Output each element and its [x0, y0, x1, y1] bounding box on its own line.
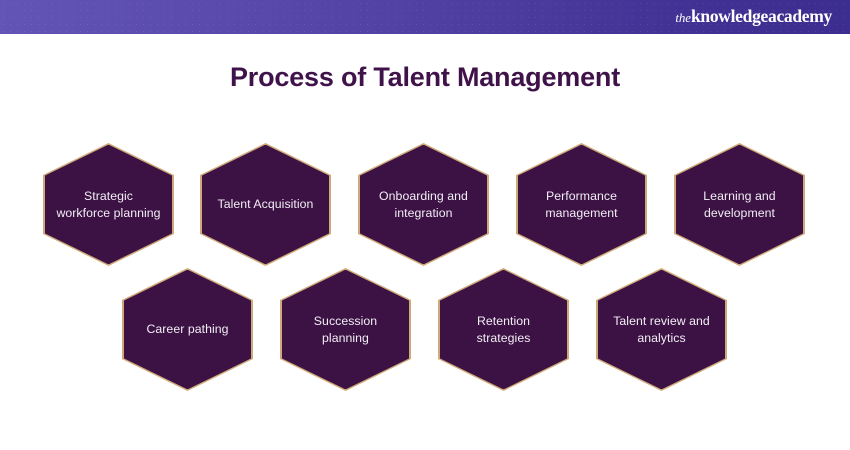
process-step-label: Talent review and analytics [596, 313, 727, 347]
process-step-strategic-workforce-planning[interactable]: Strategic workforce planning [43, 143, 174, 266]
process-step-label: Succession planning [280, 313, 411, 347]
process-diagram: Strategic workforce planning Talent Acqu… [0, 0, 850, 450]
brand-logo-prefix: the [675, 10, 691, 25]
process-step-label: Retention strategies [438, 313, 569, 347]
process-step-talent-review-and-analytics[interactable]: Talent review and analytics [596, 268, 727, 391]
brand-logo-name: knowledgeacademy [691, 6, 832, 26]
process-step-talent-acquisition[interactable]: Talent Acquisition [200, 143, 331, 266]
process-step-career-pathing[interactable]: Career pathing [122, 268, 253, 391]
process-step-onboarding-and-integration[interactable]: Onboarding and integration [358, 143, 489, 266]
process-step-label: Learning and development [674, 188, 805, 222]
process-step-retention-strategies[interactable]: Retention strategies [438, 268, 569, 391]
process-step-learning-and-development[interactable]: Learning and development [674, 143, 805, 266]
process-step-label: Career pathing [133, 321, 241, 338]
process-step-label: Performance management [516, 188, 647, 222]
process-step-performance-management[interactable]: Performance management [516, 143, 647, 266]
process-step-succession-planning[interactable]: Succession planning [280, 268, 411, 391]
process-step-label: Talent Acquisition [205, 196, 327, 213]
process-step-label: Strategic workforce planning [43, 188, 174, 222]
process-step-label: Onboarding and integration [358, 188, 489, 222]
brand-logo[interactable]: theknowledgeacademy [675, 8, 832, 26]
